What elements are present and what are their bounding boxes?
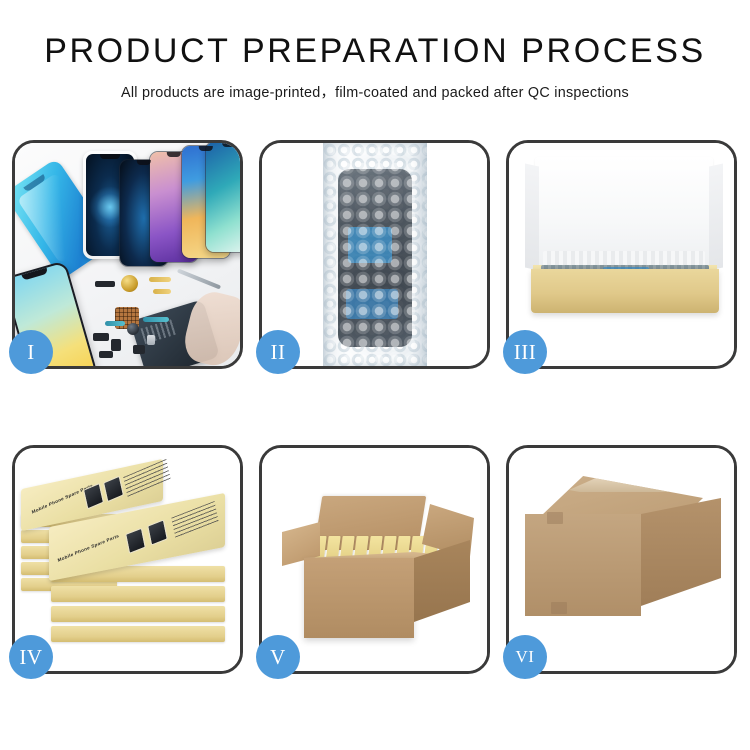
page-subtitle: All products are image-printed，film-coat… — [0, 81, 750, 102]
product-preparation-infographic: PRODUCT PREPARATION PROCESS All products… — [0, 0, 750, 750]
steps-grid: I II III — [12, 140, 738, 674]
step-panel-2: II — [259, 140, 490, 369]
step-badge-1: I — [9, 330, 53, 374]
camera-module — [127, 323, 139, 335]
packing-tape — [569, 478, 703, 492]
step-badge-4: IV — [9, 635, 53, 679]
connector-part-1 — [95, 281, 115, 287]
step-image-6 — [509, 448, 734, 671]
box-product-image-3 — [125, 528, 146, 554]
stacked-box-f4 — [51, 626, 225, 642]
phone-4-screen — [206, 143, 240, 252]
step-panel-3: III — [506, 140, 737, 369]
step-panel-4: Mobile Phone Spare Parts Mobile Phone Sp… — [12, 445, 243, 674]
header: PRODUCT PREPARATION PROCESS All products… — [0, 0, 750, 102]
bubble-sleeve-edges — [323, 143, 427, 366]
flex-cable-4 — [105, 321, 125, 326]
connector-part-2 — [93, 333, 109, 341]
box-product-image-2 — [103, 476, 124, 503]
phone-2-notch — [167, 152, 181, 157]
box-stack: Mobile Phone Spare Parts Mobile Phone Sp… — [21, 462, 233, 658]
flex-cable-1 — [149, 277, 171, 282]
connector-part-4 — [133, 345, 145, 354]
flex-cable-2 — [153, 289, 171, 294]
box-spec-lines-front — [171, 501, 218, 539]
carton-tab-bottom — [551, 602, 567, 614]
phone-4-notch — [222, 143, 236, 147]
sealed-shipping-carton — [525, 476, 723, 644]
film-notch — [23, 174, 46, 192]
step-badge-2: II — [256, 330, 300, 374]
open-shipping-carton — [282, 474, 474, 650]
box-label-front: Mobile Phone Spare Parts — [57, 533, 119, 563]
step-badge-6: VI — [503, 635, 547, 679]
connector-part-3 — [111, 339, 121, 351]
step-badge-3: III — [503, 330, 547, 374]
phone-3-notch — [199, 146, 213, 151]
box-product-image-4 — [147, 519, 168, 545]
flex-cable-3 — [143, 317, 169, 322]
box-spec-lines-rear — [123, 459, 171, 498]
metal-bracket — [147, 335, 155, 345]
step-image-4: Mobile Phone Spare Parts Mobile Phone Sp… — [15, 448, 240, 671]
sealed-side-face — [641, 498, 721, 606]
page-title: PRODUCT PREPARATION PROCESS — [0, 34, 750, 70]
step-panel-5: V — [259, 445, 490, 674]
connector-part-5 — [99, 351, 113, 358]
step-panel-1: I — [12, 140, 243, 369]
speaker-part — [121, 275, 138, 292]
stacked-box-f2 — [51, 586, 225, 602]
step-panel-6: VI — [506, 445, 737, 674]
step-image-2 — [262, 143, 487, 366]
phone-4 — [205, 143, 240, 253]
carton-tab-top — [547, 512, 563, 524]
phone-1-notch — [137, 160, 151, 165]
carton-front-face — [304, 558, 414, 638]
step-image-5 — [262, 448, 487, 671]
kraft-box-tray — [531, 269, 719, 313]
step-image-3 — [509, 143, 734, 366]
stacked-box-f3 — [51, 606, 225, 622]
step-image-1 — [15, 143, 240, 366]
glass-notch — [100, 154, 120, 159]
sealed-front-face — [525, 514, 641, 616]
step-badge-5: V — [256, 635, 300, 679]
